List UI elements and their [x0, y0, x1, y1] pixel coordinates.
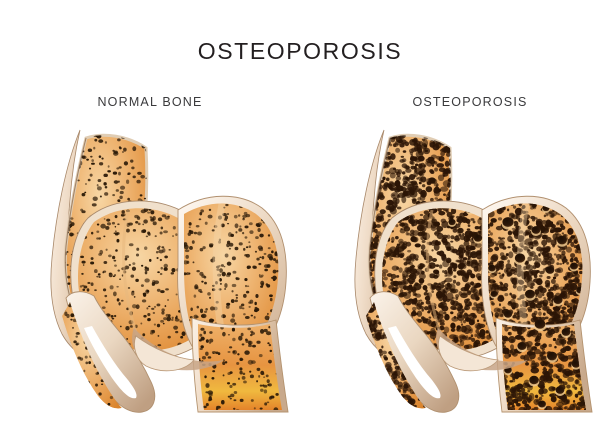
osteoporosis-bone-body	[353, 129, 594, 418]
porosity-cavity	[529, 376, 539, 384]
figure-normal-bone	[8, 118, 298, 418]
porosity-cavity	[515, 253, 525, 262]
porosity-cavity	[532, 226, 541, 234]
cavity-rim	[514, 176, 522, 182]
illustration-root: OSTEOPOROSIS NORMAL BONE OSTEOPOROSIS	[0, 0, 600, 436]
panel-caption-normal: NORMAL BONE	[40, 95, 260, 109]
cavity-rim	[458, 191, 470, 201]
porosity-cavity	[556, 386, 565, 394]
porosity-cavity	[448, 219, 455, 225]
porosity-cavity	[474, 234, 482, 241]
cavity-rim	[560, 412, 568, 418]
porosity-cavity	[557, 236, 567, 245]
porosity-cavity	[553, 296, 562, 304]
porosity-cavity	[517, 342, 526, 350]
panel-caption-osteoporosis: OSTEOPOROSIS	[360, 95, 580, 109]
porosity-cavity	[502, 217, 513, 227]
cavity-rim	[566, 182, 573, 188]
porosity-cavity	[459, 189, 469, 198]
figure-osteoporosis-bone	[312, 118, 600, 418]
cavity-rim	[538, 185, 549, 195]
porosity-cavity	[538, 400, 546, 407]
porosity-cavity	[491, 291, 498, 297]
porosity-cavity	[562, 328, 571, 336]
normal-bone-body	[50, 130, 288, 414]
cavity-rim	[486, 180, 495, 188]
porosity-cavity	[486, 178, 494, 185]
porosity-cavity	[539, 184, 549, 193]
porosity-cavity	[515, 175, 522, 181]
porosity-cavity	[525, 290, 535, 299]
normal-bone-diagram	[8, 118, 298, 418]
porosity-cavity	[504, 310, 512, 317]
porosity-cavity	[535, 319, 546, 329]
porosity-cavity	[547, 352, 557, 361]
porosity-cavity	[567, 181, 573, 187]
page-title: OSTEOPOROSIS	[0, 38, 600, 65]
porosity-cavity	[488, 265, 496, 272]
porosity-cavity	[570, 262, 578, 269]
osteoporosis-bone-diagram	[312, 118, 600, 418]
porosity-cavity	[546, 266, 555, 274]
